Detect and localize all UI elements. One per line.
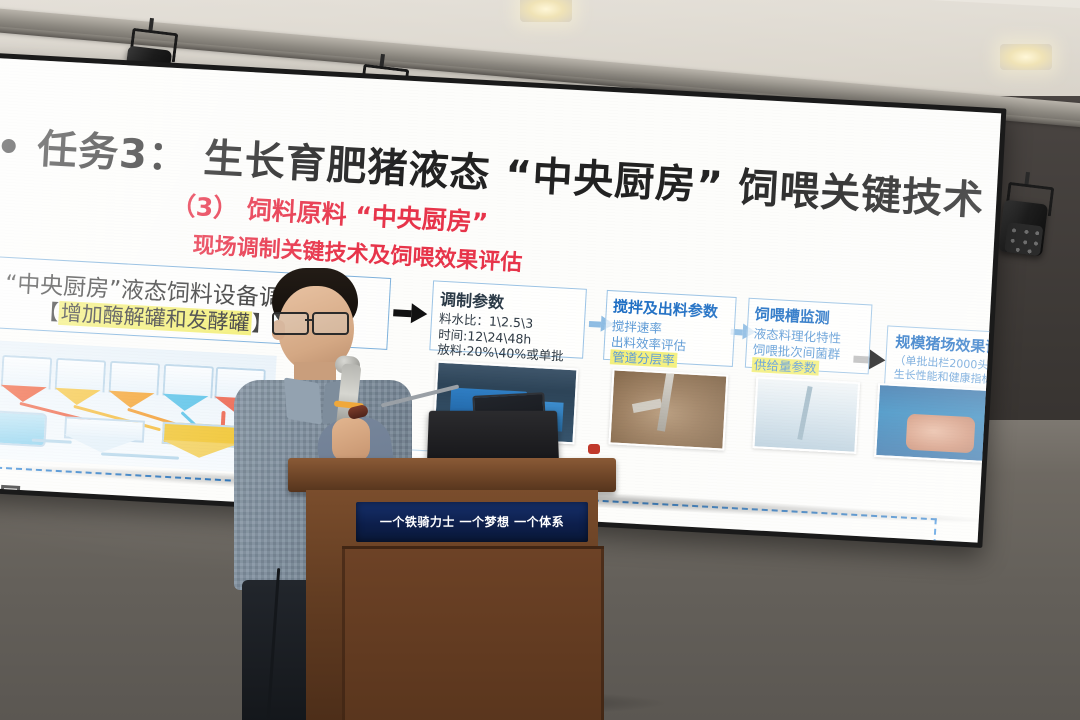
left-lens <box>272 312 309 335</box>
funnel-icon <box>0 385 47 404</box>
pig-barn-interior-photo <box>752 376 860 454</box>
slide-title: • 任务3： 生长育肥猪液态 “中央厨房” 饲喂关键技术 <box>0 114 986 226</box>
funnel-icon <box>162 394 209 413</box>
led-par-light-icon <box>996 181 1053 260</box>
flow-box-prep-params: 调制参数 料水比：1\2.5\3 时间:12\24\48h 放料:20%\40%… <box>429 280 587 358</box>
highlighted-text: 供给量参数 <box>752 357 819 376</box>
highlighted-text: 管道分层率 <box>610 349 677 368</box>
flow-box-farm-evaluation: 规模猪场效果评估 （单批出栏2000头以上） 生长性能和健康指标 <box>884 325 1001 393</box>
flow-arrow-4 <box>869 349 886 370</box>
recessed-downlight <box>520 0 572 22</box>
eyeglasses-icon <box>272 312 360 332</box>
piglets-in-pen-photo <box>874 383 992 463</box>
placard-text: 一个铁骑力士 一个梦想 一个体系 <box>356 513 588 530</box>
shirt-collar-left <box>284 377 322 424</box>
lectern: 一个铁骑力士 一个梦想 一个体系 <box>288 452 616 720</box>
bracket-open: 【 <box>37 300 59 325</box>
flow-box-mixing-params: 搅拌及出料参数 搅拌速率 出料效率评估 管道分层率 <box>603 290 737 367</box>
lectern-body: 一个铁骑力士 一个梦想 一个体系 <box>306 490 598 720</box>
lectern-placard: 一个铁骑力士 一个梦想 一个体系 <box>356 502 588 542</box>
lectern-red-knob[interactable] <box>588 444 600 454</box>
right-lens <box>312 312 349 335</box>
recessed-downlight <box>1000 44 1052 70</box>
screenshot-root: • 任务3： 生长育肥猪液态 “中央厨房” 饲喂关键技术 （3） 饲料原料 “中… <box>0 0 1080 720</box>
lectern-panel <box>342 546 604 720</box>
nose-bridge <box>305 319 312 321</box>
funnel-icon <box>54 388 101 407</box>
funnel-icon <box>108 391 155 410</box>
flow-box-trough-monitoring: 饲喂槽监测 液态料理化特性 饲喂批次间菌群 供给量参数 <box>745 298 873 375</box>
flow-arrow-stem <box>589 321 601 328</box>
slurry-mixing-photo <box>608 368 728 450</box>
lectern-top <box>288 458 616 492</box>
highlighted-text: 增加酶解罐和发酵罐 <box>58 301 252 336</box>
light-lens <box>1004 222 1043 256</box>
presenter-laptop[interactable] <box>427 411 559 462</box>
